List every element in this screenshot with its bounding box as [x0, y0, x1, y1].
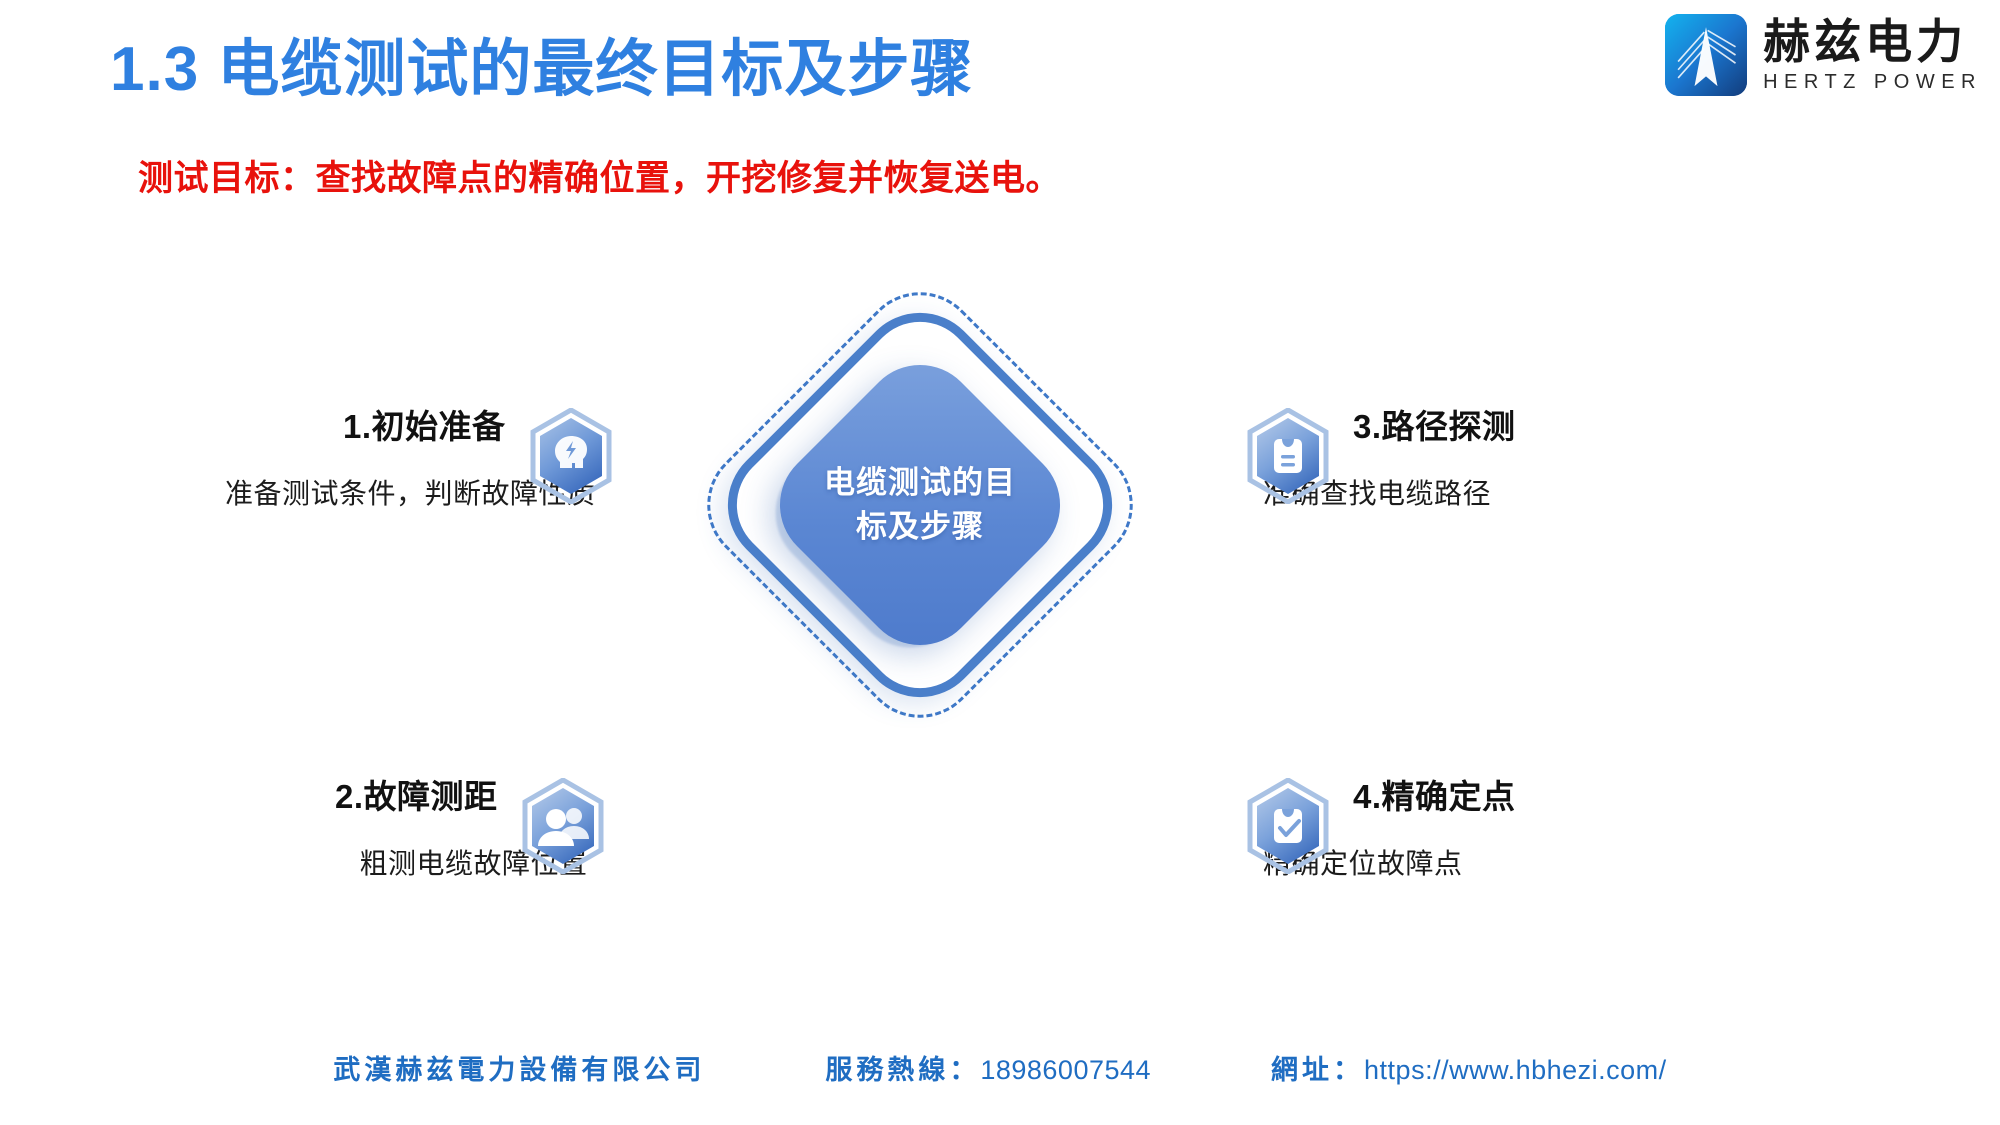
step-1-text: 1.初始准备 准备测试条件，判断故障性质: [225, 400, 506, 512]
footer-hotline: 服務熱線： 18986007544: [825, 1048, 1151, 1087]
footer: 武漢赫兹電力設備有限公司 服務熱線： 18986007544 網址： https…: [0, 1048, 2000, 1087]
step-item-2[interactable]: 2.故障测距 粗测电缆故障位置: [335, 770, 606, 882]
page-title: 1.3 电缆测试的最终目标及步骤: [110, 34, 973, 105]
step-2-title: 2.故障测距: [335, 770, 498, 818]
step-3-text: 3.路径探测 准确查找电缆路径: [1353, 400, 1516, 512]
slide-canvas: 1.3 电缆测试的最终目标及步骤 测试目标：查找故障点的精确位置，开挖修复并恢复…: [0, 0, 2000, 1125]
logo-wordmark: 赫兹电力 HERTZ POWER: [1763, 18, 1982, 92]
footer-website-value[interactable]: https://www.hbhezi.com/: [1364, 1055, 1667, 1086]
diagram-core-label-line2: 标及步骤: [856, 509, 984, 544]
diagram-core-label: 电缆测试的目 标及步骤: [795, 461, 1045, 549]
slide-subtitle: 测试目标：查找故障点的精确位置，开挖修复并恢复送电。: [138, 150, 1061, 201]
footer-company-name: 武漢赫兹電力設備有限公司: [333, 1048, 705, 1087]
footer-website-label: 網址：: [1271, 1048, 1364, 1087]
two-people-icon: [520, 778, 606, 874]
step-4-text: 4.精确定点 精确定位故障点: [1353, 770, 1516, 882]
footer-website: 網址： https://www.hbhezi.com/: [1271, 1048, 1667, 1087]
brand-logo: 赫兹电力 HERTZ POWER: [1665, 14, 1982, 96]
footer-company: 武漢赫兹電力設備有限公司: [333, 1048, 705, 1087]
clipboard-check-icon: [1245, 778, 1331, 874]
diagram-core-label-line1: 电缆测试的目: [824, 465, 1016, 500]
footer-hotline-label: 服務熱線：: [825, 1048, 980, 1087]
center-diagram: 电缆测试的目 标及步骤: [700, 285, 1140, 725]
clipboard-icon: [1245, 408, 1331, 504]
head-lightning-icon: [528, 408, 614, 504]
step-4-title: 4.精确定点: [1353, 770, 1516, 818]
step-item-1[interactable]: 1.初始准备 准备测试条件，判断故障性质: [225, 400, 614, 512]
logo-english-name: HERTZ POWER: [1763, 72, 1982, 92]
hertz-power-bridge-logo-icon: [1665, 14, 1747, 96]
footer-hotline-value: 18986007544: [980, 1055, 1151, 1086]
step-3-title: 3.路径探测: [1353, 400, 1516, 448]
step-1-title: 1.初始准备: [225, 400, 506, 448]
step-item-4[interactable]: 4.精确定点 精确定位故障点: [1245, 770, 1516, 882]
step-2-text: 2.故障测距 粗测电缆故障位置: [335, 770, 498, 882]
logo-chinese-name: 赫兹电力: [1763, 18, 1982, 65]
step-item-3[interactable]: 3.路径探测 准确查找电缆路径: [1245, 400, 1516, 512]
